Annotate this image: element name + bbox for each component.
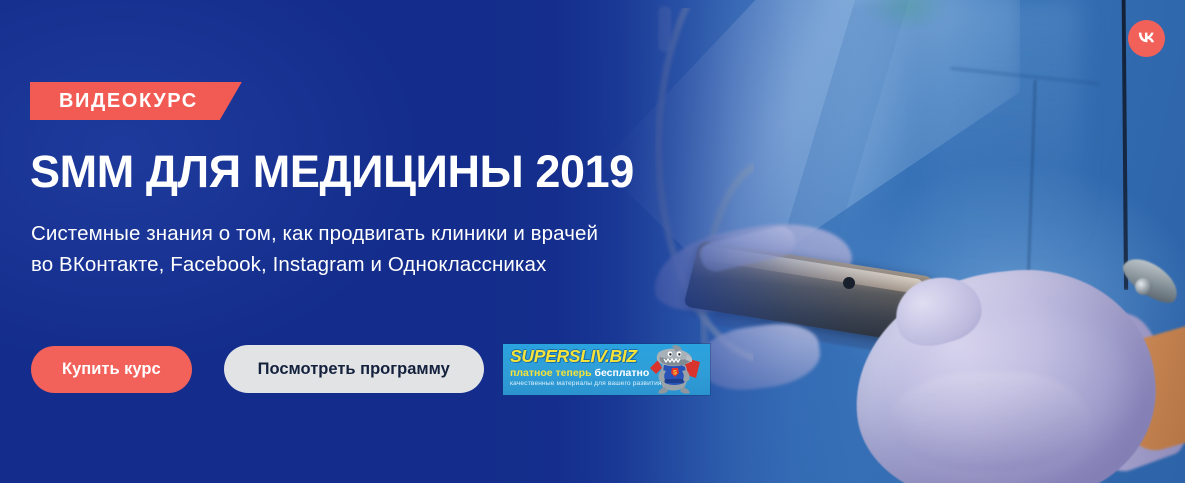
- vk-logo-button[interactable]: [1128, 20, 1165, 57]
- svg-text:S: S: [673, 370, 677, 376]
- buy-course-button[interactable]: Купить курс: [31, 346, 192, 393]
- supersliv-tagline-free: бесплатно: [594, 367, 649, 379]
- hero-content: ВИДЕОКУРС SMM ДЛЯ МЕДИЦИНЫ 2019 Системны…: [0, 0, 1185, 483]
- vk-logo-icon: [1136, 28, 1157, 49]
- supersliv-subline: качественные материалы для вашего развит…: [510, 381, 655, 388]
- supersliv-banner[interactable]: SUPERSLIV.BIZ платное теперь бесплатно к…: [503, 344, 710, 395]
- shark-superhero-icon: S: [646, 344, 704, 394]
- course-type-badge: ВИДЕОКУРС: [30, 82, 242, 120]
- course-type-badge-label: ВИДЕОКУРС: [59, 90, 198, 113]
- view-program-button[interactable]: Посмотреть программу: [224, 345, 484, 393]
- page-title: SMM ДЛЯ МЕДИЦИНЫ 2019: [30, 148, 634, 196]
- hero-actions: Купить курс Посмотреть программу: [31, 345, 484, 393]
- supersliv-tagline: платное теперь бесплатно: [510, 368, 655, 379]
- hero-subtitle-line-1: Системные знания о том, как продвигать к…: [31, 218, 598, 249]
- hero-subtitle: Системные знания о том, как продвигать к…: [31, 218, 598, 280]
- supersliv-brand: SUPERSLIV.BIZ: [510, 348, 655, 366]
- supersliv-tagline-paid: платное теперь: [510, 367, 594, 379]
- hero-subtitle-line-2: во ВКонтакте, Facebook, Instagram и Одно…: [31, 249, 598, 280]
- supersliv-banner-text: SUPERSLIV.BIZ платное теперь бесплатно к…: [510, 348, 655, 388]
- hero-banner: ВИДЕОКУРС SMM ДЛЯ МЕДИЦИНЫ 2019 Системны…: [0, 0, 1185, 483]
